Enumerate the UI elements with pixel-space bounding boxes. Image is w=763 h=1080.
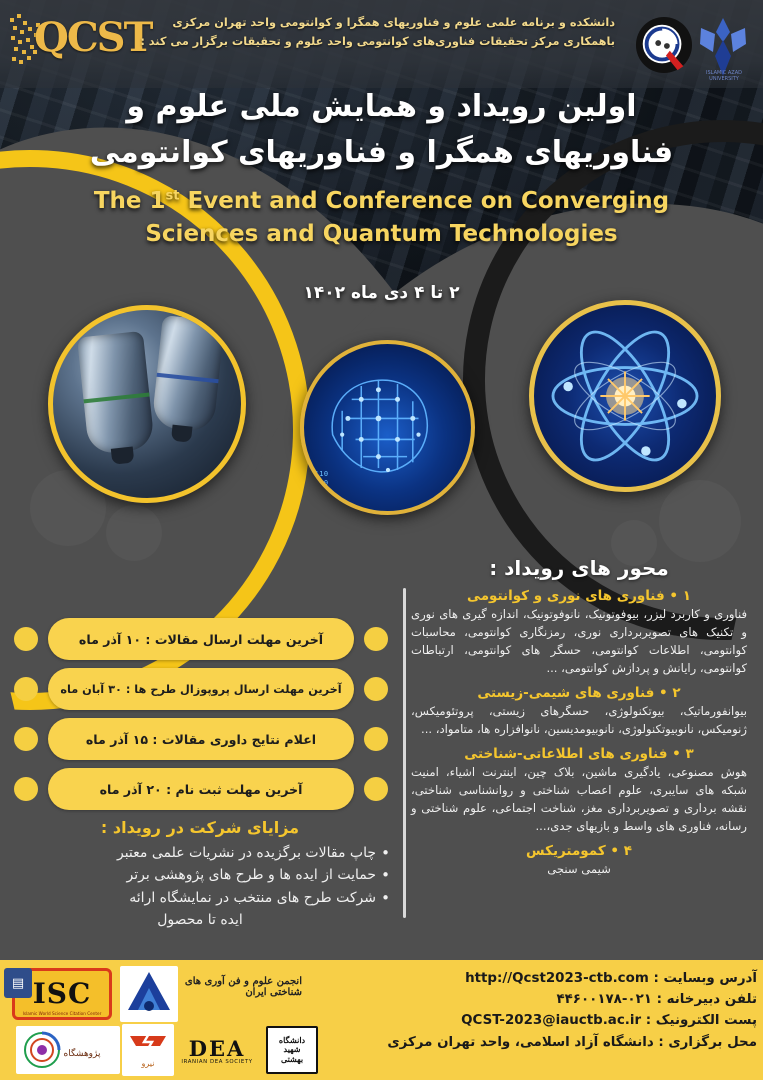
- dot-left-icon: [14, 727, 38, 751]
- book-icon: ▤: [4, 968, 32, 998]
- microscope-objective-2: [151, 315, 224, 433]
- topic-label: فناوری های نوری و کوانتومی: [467, 588, 665, 604]
- page-title-persian: اولین رویداد و همایش ملی علوم و فناوریها…: [0, 84, 763, 175]
- topic-item: ۳ • فناوری های اطلاعاتی-شناختی هوش مصنوع…: [403, 746, 755, 836]
- poster-footer: ISC Islamic World Science Citation Cente…: [0, 960, 763, 1080]
- topic-title: ۴ • کمومتریکس: [403, 843, 755, 859]
- svg-text:پژوهشگاه: پژوهشگاه: [63, 1047, 101, 1059]
- topic-label: فناوری های اطلاعاتی-شناختی: [464, 746, 667, 762]
- topic-body: شیمی سنجی: [403, 861, 755, 879]
- topic-title: ۲ • فناوری های شیمی-زیستی: [403, 685, 755, 701]
- title-en-ordinal: st: [166, 188, 180, 203]
- ghost-circle-3: [659, 480, 741, 562]
- niroo-research-logo: نیرو: [122, 1024, 174, 1076]
- title-en-line1: The 1st Event and Conference on Convergi…: [0, 185, 763, 218]
- header-subtitle-line2: باهمکاری مرکز تحقیقات فناوری‌های کوانتوم…: [135, 33, 615, 52]
- topic-number: ۳: [685, 746, 693, 762]
- website-value[interactable]: http://Qcst2023-ctb.com: [465, 968, 649, 989]
- dea-sublabel: IRANIAN DEA SOCIETY: [181, 1059, 252, 1065]
- topic-title: ۱ • فناوری های نوری و کوانتومی: [403, 588, 755, 604]
- cognitive-society-label: انجمن علوم و فن آوری های شناختی ایران: [182, 976, 302, 998]
- title-en-rest: Event and Conference on Converging: [188, 188, 670, 214]
- phone-line: تلفن دبیرخانه : ۰۲۱-۴۴۶۰۰۱۷۸: [347, 989, 757, 1010]
- deadline-row: اعلام نتایج داوری مقالات : ۱۵ آذر ماه: [14, 716, 388, 762]
- website-label: آدرس وبسایت :: [653, 971, 757, 986]
- benefits-heading: مزایای شرکت در رویداد :: [10, 818, 390, 837]
- dea-label: DEA: [189, 1038, 246, 1059]
- azad-logo-caption: ISLAMIC AZAD UNIVERSITY: [697, 70, 751, 82]
- binary-digits: 0110 0100 1001 1001: [310, 470, 328, 505]
- topic-number: ۲: [672, 685, 680, 701]
- deadline-pill: آخرین مهلت ثبت نام : ۲۰ آذر ماه: [48, 768, 354, 810]
- microscope-image: [48, 305, 246, 503]
- deadline-pill: اعلام نتایج داوری مقالات : ۱۵ آذر ماه: [48, 718, 354, 760]
- qcst-logo-text: QCST: [34, 18, 151, 58]
- deadline-row: آخرین مهلت ارسال مقالات : ۱۰ آذر ماه: [14, 616, 388, 662]
- shahid-beheshti-logo: دانشگاه شهید بهشتی: [266, 1026, 318, 1074]
- benefit-item: چاپ مقالات برگزیده در نشریات علمی معتبر: [10, 842, 390, 864]
- benefit-item: شرکت طرح های منتخب در نمایشگاه ارائه: [10, 887, 390, 909]
- phone-value: ۰۲۱-۴۴۶۰۰۱۷۸: [556, 992, 651, 1007]
- topic-label: فناوری های شیمی-زیستی: [477, 685, 654, 701]
- dot-left-icon: [14, 777, 38, 801]
- bits-line4: 1001: [310, 496, 328, 505]
- topic-item: ۲ • فناوری های شیمی-زیستی بیوانفورماتیک،…: [403, 685, 755, 739]
- sbu-line3: بهشتی: [279, 1055, 305, 1064]
- title-fa-line1: اولین رویداد و همایش ملی علوم و: [0, 84, 763, 130]
- title-en-prefix: The 1: [94, 188, 166, 214]
- header-subtitle: دانشکده و برنامه علمی علوم و فناوریهای ه…: [135, 14, 615, 51]
- cognitive-society-logo: [120, 966, 178, 1022]
- header-logos: ISLAMIC AZAD UNIVERSITY: [621, 6, 753, 86]
- atom-image: [529, 300, 721, 492]
- topic-label: کمومتریکس: [526, 843, 606, 859]
- dot-right-icon: [364, 777, 388, 801]
- title-fa-line2: فناوریهای همگرا و فناوریهای کوانتومی: [0, 130, 763, 176]
- sponsor-logos: ISC Islamic World Science Citation Cente…: [4, 962, 340, 1078]
- deadline-row: آخرین مهلت ثبت نام : ۲۰ آذر ماه: [14, 766, 388, 812]
- circuit-brain-image: 0110 0100 1001 1001: [300, 340, 475, 515]
- topic-number: ۱: [683, 588, 691, 604]
- column-divider: [403, 588, 406, 918]
- topic-title: ۳ • فناوری های اطلاعاتی-شناختی: [403, 746, 755, 762]
- topics-heading: محور های رویداد :: [403, 556, 755, 580]
- contact-info: آدرس وبسایت : http://Qcst2023-ctb.com تل…: [347, 968, 757, 1053]
- benefit-continuation: ایده تا محصول: [10, 909, 390, 931]
- dot-right-icon: [364, 727, 388, 751]
- microscope-objective-1: [77, 331, 155, 455]
- partner-logo-icon: پژوهشگاه: [16, 1026, 120, 1074]
- poster-header: QCST دانشکده و برنامه علمی علوم و فناوری…: [0, 0, 763, 92]
- phone-label: تلفن دبیرخانه :: [657, 992, 757, 1007]
- isc-sublabel: Islamic World Science Citation Center: [15, 1011, 109, 1016]
- venue-label: محل برگزاری :: [658, 1035, 757, 1050]
- bits-line2: 0100: [310, 479, 328, 488]
- deadline-row: آخرین مهلت ارسال پروپوزال طرح ها : ۳۰ آب…: [14, 666, 388, 712]
- isc-label: ISC: [33, 980, 92, 1008]
- dot-left-icon: [14, 677, 38, 701]
- bits-line3: 1001: [310, 488, 328, 497]
- sbu-label: دانشگاه شهید بهشتی: [279, 1036, 305, 1064]
- email-label: پست الکترونیک :: [646, 1013, 757, 1028]
- dea-logo: DEA IRANIAN DEA SOCIETY: [174, 1030, 260, 1072]
- topic-item: ۴ • کمومتریکس شیمی سنجی: [403, 843, 755, 879]
- header-subtitle-line1: دانشکده و برنامه علمی علوم و فناوریهای ه…: [135, 14, 615, 33]
- bits-line1: 0110: [310, 470, 328, 479]
- venue-value: دانشگاه آزاد اسلامی، واحد تهران مرکزی: [387, 1035, 653, 1050]
- deadline-pill: آخرین مهلت ارسال پروپوزال طرح ها : ۳۰ آب…: [48, 668, 354, 710]
- venue-line: محل برگزاری : دانشگاه آزاد اسلامی، واحد …: [347, 1032, 757, 1053]
- topic-item: ۱ • فناوری های نوری و کوانتومی فناوری و …: [403, 588, 755, 678]
- dot-left-icon: [14, 627, 38, 651]
- topic-body: هوش مصنوعی، یادگیری ماشین، بلاک چین، این…: [403, 764, 755, 836]
- email-value[interactable]: QCST-2023@iauctb.ac.ir: [461, 1010, 641, 1031]
- email-line: پست الکترونیک : QCST-2023@iauctb.ac.ir: [347, 1010, 757, 1031]
- benefits-section: مزایای شرکت در رویداد : چاپ مقالات برگزی…: [10, 818, 390, 932]
- dot-right-icon: [364, 627, 388, 651]
- page-title-english: The 1st Event and Conference on Convergi…: [0, 185, 763, 252]
- topic-body: بیوانفورماتیک، بیوتکنولوژی، حسگرهای زیست…: [403, 703, 755, 739]
- conference-poster: QCST دانشکده و برنامه علمی علوم و فناوری…: [0, 0, 763, 1080]
- svg-text:نیرو: نیرو: [141, 1059, 155, 1068]
- cognitive-logo-icon: [120, 966, 178, 1022]
- dot-right-icon: [364, 677, 388, 701]
- quantum-research-center-logo: [635, 16, 693, 74]
- website-line: آدرس وبسایت : http://Qcst2023-ctb.com: [347, 968, 757, 989]
- topic-number: ۴: [624, 843, 632, 859]
- qcst-logo: QCST: [8, 8, 136, 70]
- brain-circuit-icon: [304, 344, 471, 511]
- ghost-circle-2: [106, 505, 162, 561]
- benefit-item: حمایت از ایده ها و طرح های پژوهشی برتر: [10, 864, 390, 886]
- topics-section: محور های رویداد : ۱ • فناوری های نوری و …: [403, 556, 755, 879]
- deadlines-section: آخرین مهلت ارسال مقالات : ۱۰ آذر ماه آخر…: [14, 616, 388, 816]
- atom-icon: [534, 305, 716, 487]
- niroo-logo-icon: نیرو: [122, 1024, 174, 1076]
- deadline-pill: آخرین مهلت ارسال مقالات : ۱۰ آذر ماه: [48, 618, 354, 660]
- title-en-line2: Sciences and Quantum Technologies: [0, 218, 763, 251]
- partner-logo-small: پژوهشگاه: [16, 1026, 120, 1074]
- event-date: ۲ تا ۴ دی ماه ۱۴۰۲: [0, 283, 763, 303]
- topic-body: فناوری و کاربرد لیزر، بیوفوتونیک، نانوفو…: [403, 606, 755, 678]
